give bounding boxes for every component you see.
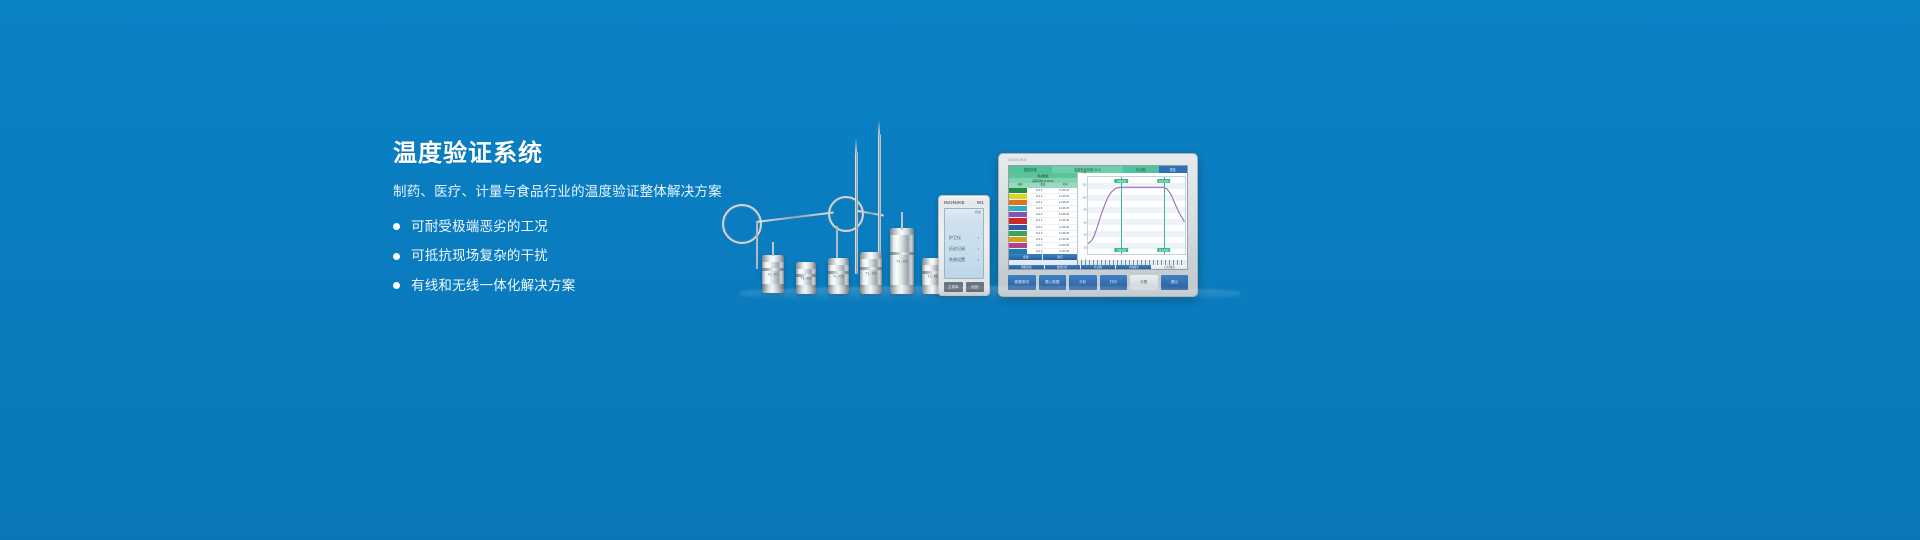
cell-temperature: 121.3 (1027, 243, 1052, 248)
cell-temperature: 121.4 (1027, 225, 1052, 230)
chevron-right-icon: › (978, 246, 979, 252)
header-segment[interactable]: 报告 (1159, 166, 1187, 173)
cell-time: 11:36:10 (1052, 188, 1077, 193)
software-body: 通道数据 采样间隔 00:00:05 通道 温度 时间 121.311:36:1… (1009, 173, 1187, 260)
bullet-dot-icon (393, 253, 400, 260)
validation-monitor[interactable]: INONIKE 数据采集 温度验证系统 V3.0 布点图 报告 通道数据 采样间… (998, 153, 1198, 297)
handheld-brand-label: INONIKE (944, 200, 965, 205)
channel-color-swatch (1009, 200, 1027, 205)
cell-time: 11:36:30 (1052, 212, 1077, 217)
cell-time: 11:36:25 (1052, 206, 1077, 211)
chevron-right-icon: › (978, 235, 979, 241)
logger-label: TL-01 (762, 272, 784, 277)
temperature-chart[interactable]: 020406080100120140 开始灭菌开始灭菌结束灭菌结束灭菌 (1077, 173, 1187, 260)
cell-time: 11:36:55 (1052, 243, 1077, 248)
hero-banner: 温度验证系统 制药、医疗、计量与食品行业的温度验证整体解决方案 可耐受极端恶劣的… (0, 0, 1920, 540)
cell-time: 11:36:35 (1052, 218, 1077, 223)
cell-temperature: 121.3 (1027, 188, 1052, 193)
software-tab-bar[interactable]: 数据表格曲线分析布点图合格报告打印预览 (1009, 265, 1187, 270)
channel-color-swatch (1009, 237, 1027, 242)
logger-cap-icon (860, 252, 882, 259)
table-body[interactable]: 121.311:36:10121.411:36:15121.211:36:201… (1009, 188, 1077, 255)
y-axis-tick-label: 20 (1084, 246, 1087, 249)
probe-wire-icon (756, 221, 758, 269)
chart-marker-label[interactable]: 结束灭菌 (1157, 248, 1171, 252)
y-axis-tick-label: 40 (1084, 234, 1087, 237)
software-tab[interactable]: 打印预览 (1152, 265, 1187, 270)
software-tab[interactable]: 布点图 (1081, 265, 1116, 270)
surface-reflection (740, 286, 1240, 302)
chart-y-axis: 020406080100120140 (1078, 173, 1088, 260)
cell-time: 11:36:45 (1052, 231, 1077, 236)
channel-color-swatch (1009, 194, 1027, 199)
y-axis-tick-label: 60 (1084, 221, 1087, 224)
list-item[interactable]: 护卫仪 › (949, 235, 979, 241)
logger-label: TL-02 (796, 276, 816, 281)
data-logger-body: TL-05 (890, 228, 914, 294)
handheld-screen-title: 状态 (975, 210, 981, 214)
handheld-brand-bar: INONIKE M1 (944, 200, 984, 205)
channel-table[interactable]: 通道数据 采样间隔 00:00:05 通道 温度 时间 121.311:36:1… (1009, 173, 1077, 260)
logger-cap-icon (796, 262, 816, 269)
probe-wire-icon (756, 212, 834, 223)
header-segment[interactable]: 布点图 (1123, 166, 1159, 173)
y-axis-tick-label: 100 (1082, 196, 1086, 199)
cell-temperature: 121.1 (1027, 218, 1052, 223)
coiled-wire-probe-icon (828, 196, 864, 232)
bullet-dot-icon (393, 282, 400, 289)
software-tab[interactable]: 合格报告 (1116, 265, 1151, 270)
feature-label: 有线和无线一体化解决方案 (411, 277, 575, 295)
chart-plot-area[interactable]: 开始灭菌开始灭菌结束灭菌结束灭菌 (1087, 176, 1185, 254)
software-tab[interactable]: 曲线分析 (1045, 265, 1080, 270)
logger-cap-icon (828, 258, 849, 265)
y-axis-tick-label: 80 (1084, 209, 1087, 212)
channel-color-swatch (1009, 231, 1027, 236)
channel-color-swatch (1009, 218, 1027, 223)
chart-marker-line[interactable] (1164, 177, 1165, 253)
y-axis-tick-label: 120 (1082, 184, 1086, 187)
header-segment[interactable]: 数据采集 (1009, 166, 1052, 173)
header-segment: 温度验证系统 V3.0 (1052, 166, 1123, 173)
cell-temperature: 121.3 (1027, 212, 1052, 217)
menu-label: 系统设置 (949, 257, 965, 263)
cell-time: 11:36:50 (1052, 237, 1077, 242)
list-item[interactable]: 历史记录 › (949, 246, 979, 252)
software-footer: 数据表格曲线分析布点图合格报告打印预览 (1009, 260, 1187, 269)
chart-marker-label[interactable]: 结束灭菌 (1157, 179, 1171, 183)
cell-temperature: 121.2 (1027, 200, 1052, 205)
logger-label: TL-03 (828, 274, 849, 279)
feature-label: 可耐受极端恶劣的工况 (411, 218, 548, 236)
cell-temperature: 121.5 (1027, 206, 1052, 211)
channel-color-swatch (1009, 188, 1027, 193)
handheld-model-label: M1 (977, 200, 984, 205)
channel-color-swatch (1009, 206, 1027, 211)
monitor-screen[interactable]: 数据采集 温度验证系统 V3.0 布点图 报告 通道数据 采样间隔 00:00:… (1008, 165, 1188, 270)
channel-color-swatch (1009, 225, 1027, 230)
needle-probe-icon (855, 152, 858, 274)
logger-label: TL-05 (890, 259, 914, 264)
menu-label: 护卫仪 (949, 235, 961, 241)
menu-label: 历史记录 (949, 246, 965, 252)
cell-temperature: 121.6 (1027, 237, 1052, 242)
y-axis-tick-label: 140 (1082, 172, 1086, 175)
chart-marker-label[interactable]: 开始灭菌 (1114, 248, 1128, 252)
cell-time: 11:36:20 (1052, 200, 1077, 205)
feature-label: 可抵抗现场复杂的干扰 (411, 247, 548, 265)
handheld-reader[interactable]: INONIKE M1 状态 护卫仪 › 历史记录 › 系统设置 › (938, 195, 990, 296)
chart-series-line (1088, 177, 1184, 253)
software-header: 数据采集 温度验证系统 V3.0 布点图 报告 (1009, 166, 1187, 173)
logger-stem-icon (901, 212, 903, 230)
chevron-right-icon: › (978, 257, 979, 263)
software-tab[interactable]: 数据表格 (1009, 265, 1044, 270)
list-item[interactable]: 系统设置 › (949, 257, 979, 263)
logger-cap-icon (762, 255, 784, 262)
product-composition: TL-01 TL-02 TL-03 TL-04 TL-05 (700, 100, 1260, 330)
logger-label: TL-04 (860, 271, 882, 276)
data-logger-body: TL-01 (762, 255, 784, 293)
chart-marker-line[interactable] (1121, 177, 1122, 253)
channel-color-swatch (1009, 212, 1027, 217)
cell-time: 11:36:40 (1052, 225, 1077, 230)
monitor-brand-label: INONIKE (1008, 157, 1027, 162)
cell-temperature: 121.4 (1027, 194, 1052, 199)
logger-stem-icon (772, 242, 774, 256)
cell-temperature: 121.2 (1027, 231, 1052, 236)
bullet-dot-icon (393, 223, 400, 230)
chart-marker-label[interactable]: 开始灭菌 (1114, 179, 1128, 183)
logger-band-icon (890, 252, 914, 255)
handheld-screen[interactable]: 状态 护卫仪 › 历史记录 › 系统设置 › (944, 208, 984, 279)
handheld-menu-list[interactable]: 护卫仪 › 历史记录 › 系统设置 › (949, 235, 979, 268)
cell-time: 11:36:15 (1052, 194, 1077, 199)
channel-color-swatch (1009, 243, 1027, 248)
